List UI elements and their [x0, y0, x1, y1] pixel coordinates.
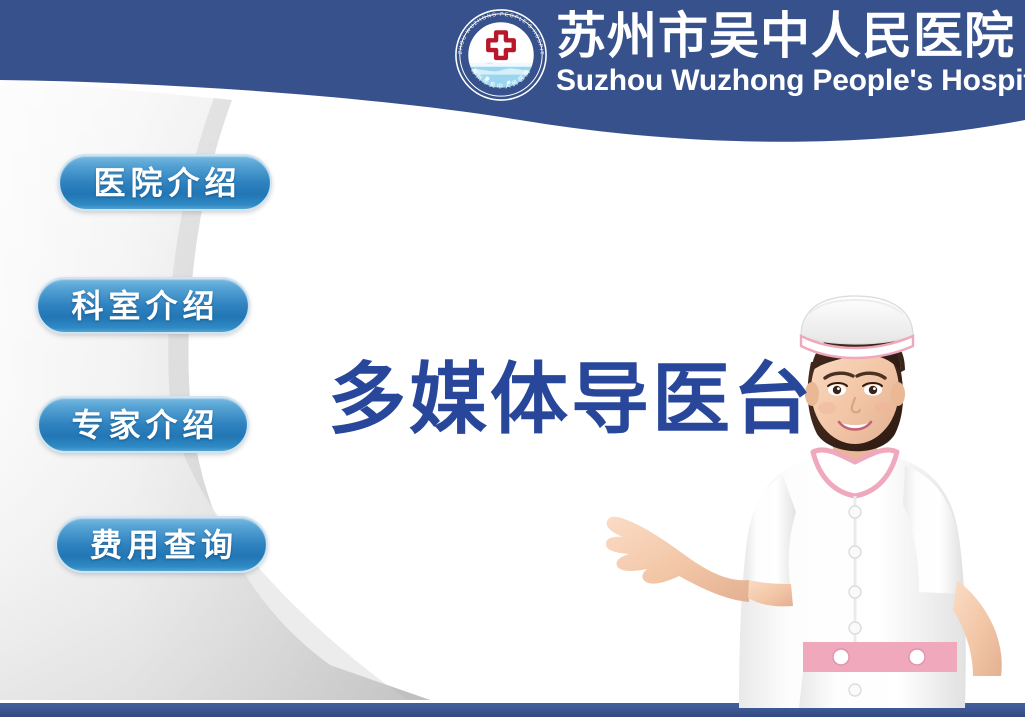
main-headline: 多媒体导医台: [328, 357, 814, 443]
hospital-name-en: Suzhou Wuzhong People's Hospital: [556, 64, 1018, 98]
sidebar-button-label: 科室介绍: [66, 288, 219, 324]
sidebar-button-expert-intro[interactable]: 专家介绍: [37, 396, 249, 453]
sidebar-button-hospital-intro[interactable]: 医院介绍: [58, 154, 272, 211]
hospital-name-cn: 苏州市吴中人民医院: [556, 8, 1018, 64]
sidebar-button-label: 医院介绍: [88, 165, 241, 201]
sidebar-button-fee-inquiry[interactable]: 费用查询: [55, 516, 268, 573]
kiosk-screen: SUZHOU WUZHONG PEOPLE'S HOSPITAL 苏州市吴中人民…: [0, 0, 1025, 717]
hospital-seal-logo: SUZHOU WUZHONG PEOPLE'S HOSPITAL 苏州市吴中人民…: [452, 6, 550, 104]
sidebar-button-label: 费用查询: [85, 527, 238, 563]
hospital-title-block: 苏州市吴中人民医院 Suzhou Wuzhong People's Hospit…: [556, 8, 1018, 98]
sidebar-button-department-intro[interactable]: 科室介绍: [36, 277, 250, 334]
nurse-photo: [605, 280, 1025, 708]
sidebar-button-label: 专家介绍: [66, 407, 219, 443]
